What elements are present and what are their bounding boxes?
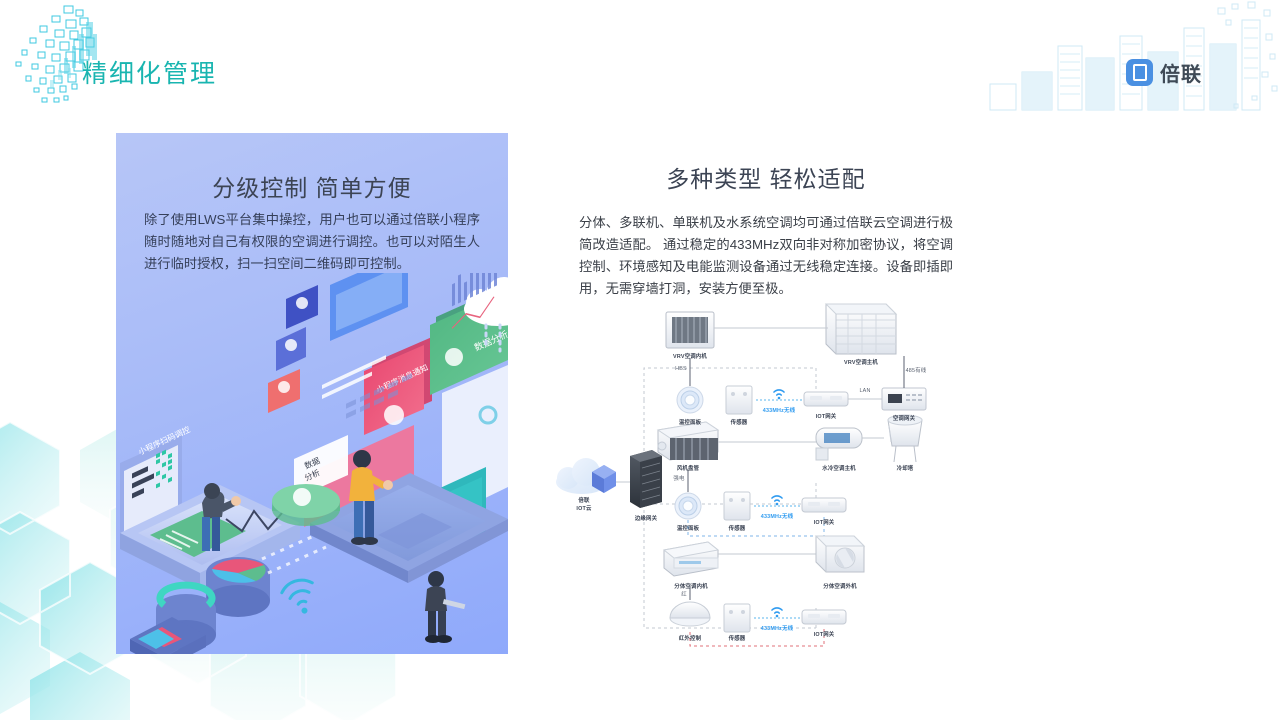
left-card-title: 分级控制 简单方便	[116, 169, 508, 203]
brand-logo: 倍联	[1126, 58, 1202, 87]
vrv-thermostat-panel	[677, 387, 703, 413]
label-cooling-tower: 冷却塔	[897, 464, 914, 472]
label-hbs: HBS	[675, 366, 687, 372]
label-split-iot-gw: IOT网关	[814, 630, 835, 638]
label-fan-coil: 风机盘管	[677, 464, 699, 472]
rounded-square-logo-icon	[1126, 59, 1153, 86]
page-title: 精细化管理	[82, 54, 217, 90]
left-feature-card: 分级控制 简单方便 除了使用LWS平台集中操控，用户也可以通过倍联小程序随时随地…	[116, 133, 508, 654]
label-water-iot-gw: IOT网关	[814, 518, 835, 526]
label-water-chiller: 水冷空调主机	[822, 464, 856, 472]
vrv-indoor-unit	[666, 312, 714, 348]
split-indoor-unit	[664, 542, 718, 576]
vrv-wireless-link	[756, 390, 802, 400]
label-vrv-wireless: 433MHz无线	[763, 406, 795, 414]
split-iot-gateway	[802, 610, 846, 624]
label-water-wireless: 433MHz无线	[761, 512, 793, 520]
label-strong-power: 强电	[673, 474, 684, 482]
right-block-body: 分体、多联机、单联机及水系统空调均可通过倍联云空调进行极简改造适配。 通过稳定的…	[579, 212, 953, 300]
label-cloud-line2: IOT云	[576, 504, 591, 512]
label-infrared-bus: 红	[681, 590, 687, 598]
label-vrv-sensor: 传感器	[731, 418, 748, 426]
split-wireless-link	[754, 608, 800, 618]
fan-coil-unit	[658, 422, 718, 460]
isometric-illustration: 小程序扫码调控 小程序消息通知	[116, 273, 508, 654]
label-split-wireless: 433MHz无线	[761, 624, 793, 632]
cooling-tower	[888, 415, 922, 462]
edge-gateway-server	[630, 450, 662, 508]
label-lan: LAN	[859, 388, 870, 394]
label-ac-gateway: 空调网关	[893, 414, 915, 422]
label-water-sensor: 传感器	[729, 524, 746, 532]
left-card-body: 除了使用LWS平台集中操控，用户也可以通过倍联小程序随时随地对自己有权限的空调进…	[144, 209, 480, 275]
label-infrared-control: 红外控制	[679, 634, 701, 642]
label-split-indoor: 分体空调内机	[674, 582, 708, 590]
split-sensor	[724, 604, 750, 632]
water-thermostat-panel	[675, 493, 701, 519]
label-edge-gateway: 边缘网关	[635, 514, 657, 522]
label-water-panel: 温控面板	[677, 524, 699, 532]
label-vrv-indoor: VRV空调内机	[673, 352, 707, 360]
label-vrv-outdoor: VRV空调主机	[844, 358, 878, 366]
brand-name: 倍联	[1160, 58, 1202, 87]
water-iot-gateway	[802, 498, 846, 512]
right-block-title: 多种类型 轻松适配	[566, 160, 966, 194]
right-feature-block: 多种类型 轻松适配 分体、多联机、单联机及水系统空调均可通过倍联云空调进行极简改…	[566, 160, 966, 300]
vrv-ac-gateway	[882, 388, 926, 410]
split-outdoor-unit	[816, 536, 864, 572]
vrv-iot-gateway	[804, 392, 848, 406]
label-485-wired: 485有线	[906, 366, 927, 374]
page-header: 精细化管理 倍联	[0, 0, 1280, 120]
infrared-controller	[670, 602, 710, 626]
iot-cloud	[556, 458, 616, 494]
network-topology-diagram: VRV空调内机 VRV空调主机 HBS 485有线 LAN 温控面板 传感器 4…	[548, 296, 948, 656]
water-sensor	[724, 492, 750, 520]
label-split-sensor: 传感器	[729, 634, 746, 642]
vrv-outdoor-unit	[826, 304, 896, 354]
water-chiller-unit	[816, 428, 862, 460]
vrv-sensor	[726, 386, 752, 414]
label-split-outdoor: 分体空调外机	[823, 582, 857, 590]
label-cloud-line1: 倍联	[578, 496, 589, 504]
label-vrv-panel: 温控面板	[679, 418, 701, 426]
label-vrv-iot-gw: IOT网关	[816, 412, 837, 420]
